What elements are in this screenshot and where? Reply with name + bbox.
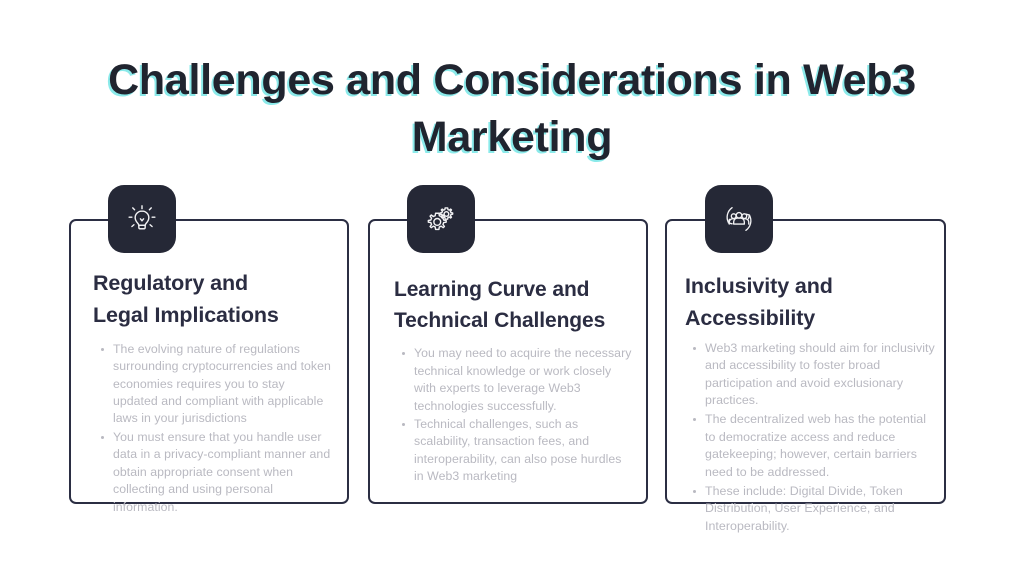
card-content: Learning Curve and Technical Challenges …: [368, 219, 648, 504]
lightbulb-icon-tile: [108, 185, 176, 253]
lightbulb-icon: [122, 199, 162, 239]
card-heading: Learning Curve and Technical Challenges: [394, 274, 634, 336]
card-regulatory-and-legal-implications[interactable]: Regulatory and Legal Implications The ev…: [69, 185, 349, 515]
list-item: Web3 marketing should aim for inclusivit…: [705, 340, 936, 410]
cards-row: Regulatory and Legal Implications The ev…: [0, 185, 1024, 515]
list-item: The evolving nature of regulations surro…: [113, 341, 331, 428]
people-cycle-icon-tile: [705, 185, 773, 253]
card-heading: Inclusivity and Accessibility: [685, 271, 936, 335]
gears-icon: [421, 199, 461, 239]
people-cycle-icon: [719, 199, 759, 239]
card-content: Regulatory and Legal Implications The ev…: [69, 219, 349, 504]
page-title: Challenges and Considerations in Web3 Ma…: [62, 52, 962, 166]
card-content: Inclusivity and Accessibility Web3 marke…: [665, 219, 946, 504]
card-bullet-list: You may need to acquire the necessary te…: [394, 345, 634, 486]
card-heading: Regulatory and Legal Implications: [93, 268, 331, 332]
card-bullet-list: Web3 marketing should aim for inclusivit…: [685, 340, 936, 536]
list-item: You may need to acquire the necessary te…: [414, 345, 634, 415]
slide-canvas: Challenges and Considerations in Web3 Ma…: [0, 0, 1024, 585]
list-item: You must ensure that you handle user dat…: [113, 429, 331, 516]
card-bullet-list: The evolving nature of regulations surro…: [93, 341, 331, 517]
list-item: These include: Digital Divide, Token Dis…: [705, 483, 936, 536]
list-item: The decentralized web has the potential …: [705, 411, 936, 481]
list-item: Technical challenges, such as scalabilit…: [414, 416, 634, 486]
gears-icon-tile: [407, 185, 475, 253]
card-inclusivity-and-accessibility[interactable]: Inclusivity and Accessibility Web3 marke…: [665, 185, 946, 515]
card-learning-curve-and-technical-challenges[interactable]: Learning Curve and Technical Challenges …: [368, 185, 648, 515]
